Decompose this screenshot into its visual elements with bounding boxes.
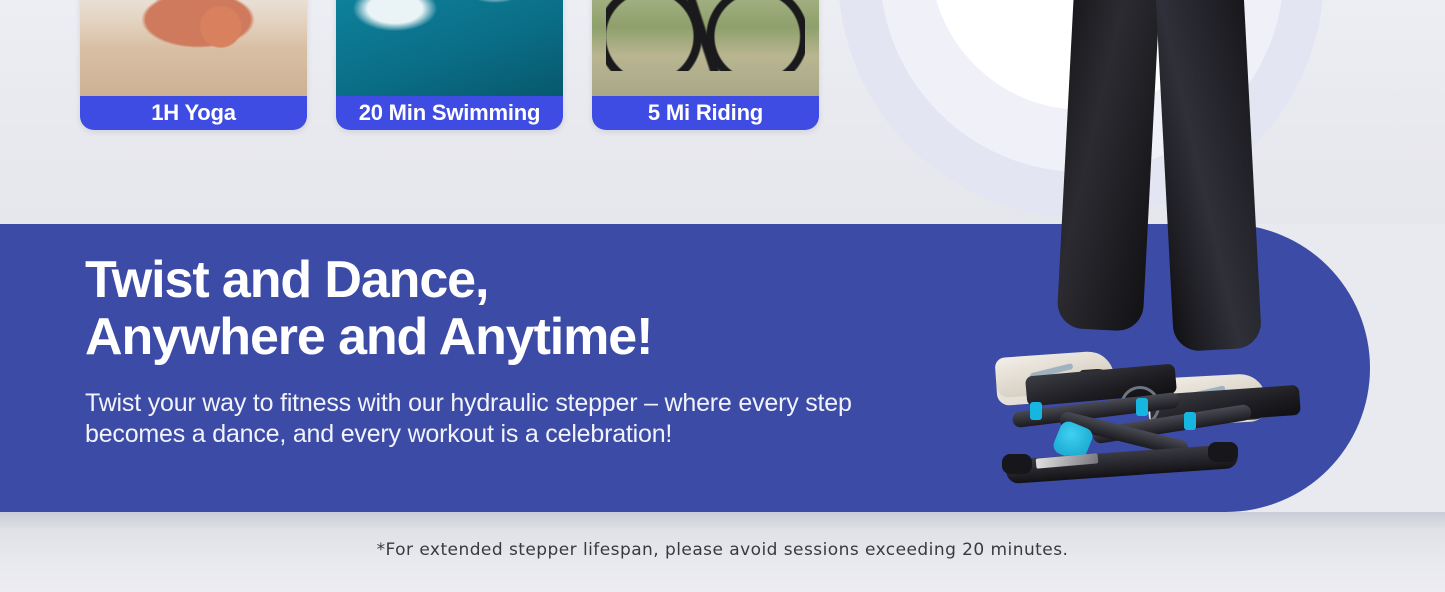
yoga-photo — [80, 0, 307, 96]
hero-subtitle: Twist your way to fitness with our hydra… — [85, 388, 985, 450]
activity-card-yoga[interactable]: 1H Yoga — [80, 0, 307, 130]
hydraulic-stepper-product — [1000, 368, 1270, 478]
activity-card-riding[interactable]: 5 Mi Riding — [592, 0, 819, 130]
hero-text-block: Twist and Dance, Anywhere and Anytime! T… — [85, 252, 985, 450]
activity-card-label: 20 Min Swimming — [336, 96, 563, 130]
model-left-leg — [1056, 0, 1161, 332]
swimming-photo — [336, 0, 563, 96]
riding-photo — [592, 0, 819, 96]
stepper-accent-ring — [1136, 398, 1148, 416]
activity-card-swimming[interactable]: 20 Min Swimming — [336, 0, 563, 130]
hero-title: Twist and Dance, Anywhere and Anytime! — [85, 252, 985, 366]
model-right-leg — [1154, 0, 1262, 352]
stepper-foot — [1208, 442, 1238, 462]
activity-card-label: 1H Yoga — [80, 96, 307, 130]
product-marketing-banner: 1H Yoga 20 Min Swimming 5 Mi Riding Twis… — [0, 0, 1445, 592]
stepper-foot — [1002, 454, 1032, 474]
stepper-accent-ring — [1030, 402, 1042, 420]
stepper-accent-ring — [1184, 412, 1196, 430]
activity-card-label: 5 Mi Riding — [592, 96, 819, 130]
footnote-disclaimer: *For extended stepper lifespan, please a… — [0, 540, 1445, 560]
model-legs-image — [1040, 0, 1288, 370]
